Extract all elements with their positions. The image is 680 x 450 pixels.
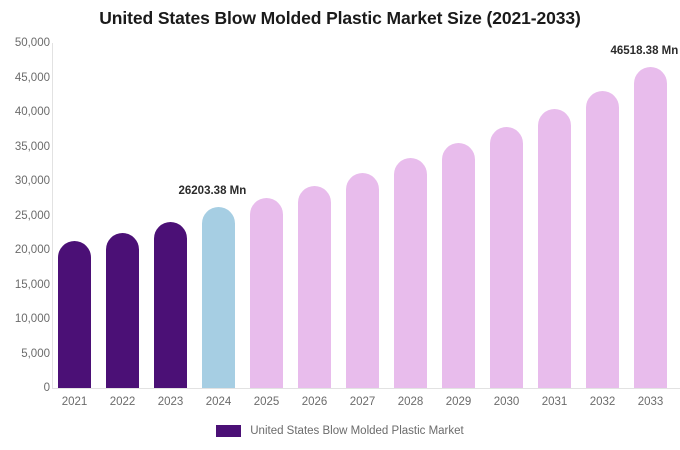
bar[interactable]: [490, 127, 523, 389]
x-axis-tick-label: 2032: [586, 396, 619, 408]
bar[interactable]: [346, 173, 379, 388]
x-axis-tick-label: 2024: [202, 396, 235, 408]
y-axis-tick-label: 15,000: [2, 279, 50, 291]
bar[interactable]: [298, 186, 331, 388]
x-axis-tick-label: 2027: [346, 396, 379, 408]
y-axis-tick-label: 10,000: [2, 313, 50, 325]
legend-label: United States Blow Molded Plastic Market: [250, 425, 463, 437]
y-axis-tick-label: 20,000: [2, 244, 50, 256]
x-axis-tick-label: 2021: [58, 396, 91, 408]
y-axis-tick-label: 45,000: [2, 72, 50, 84]
bar[interactable]: [154, 222, 187, 388]
y-axis-tick-label: 30,000: [2, 175, 50, 187]
bar[interactable]: [106, 233, 139, 388]
y-axis-tick-label: 50,000: [2, 37, 50, 49]
x-axis-tick-label: 2022: [106, 396, 139, 408]
x-axis-tick-label: 2028: [394, 396, 427, 408]
bar-value-label: 26203.38 Mn: [179, 185, 247, 197]
legend-swatch: [216, 425, 241, 437]
bar-chart: United States Blow Molded Plastic Market…: [0, 0, 680, 450]
x-axis-tick-label: 2029: [442, 396, 475, 408]
chart-legend: United States Blow Molded Plastic Market: [0, 425, 680, 437]
x-axis-tick-label: 2031: [538, 396, 571, 408]
chart-title: United States Blow Molded Plastic Market…: [0, 8, 680, 29]
bar-value-label: 46518.38 Mn: [611, 45, 679, 57]
x-axis-tick-label: 2030: [490, 396, 523, 408]
bar[interactable]: [586, 91, 619, 388]
x-axis-line: [52, 388, 680, 389]
bar[interactable]: [634, 67, 667, 388]
bar[interactable]: [250, 198, 283, 388]
bar[interactable]: [394, 158, 427, 388]
plot-area: [58, 43, 680, 388]
bar[interactable]: [442, 143, 475, 388]
x-axis-tick-label: 2023: [154, 396, 187, 408]
y-axis-tick-labels: 05,00010,00015,00020,00025,00030,00035,0…: [0, 0, 50, 450]
y-axis-tick-label: 25,000: [2, 210, 50, 222]
bar[interactable]: [538, 109, 571, 388]
y-axis-tick-label: 5,000: [2, 348, 50, 360]
x-axis-tick-label: 2025: [250, 396, 283, 408]
bar[interactable]: [202, 207, 235, 388]
x-axis-tick-label: 2033: [634, 396, 667, 408]
y-axis-tick-label: 0: [2, 382, 50, 394]
y-axis-tick-label: 40,000: [2, 106, 50, 118]
y-axis-line: [52, 43, 53, 388]
x-axis-tick-label: 2026: [298, 396, 331, 408]
y-axis-tick-label: 35,000: [2, 141, 50, 153]
bar[interactable]: [58, 241, 91, 388]
